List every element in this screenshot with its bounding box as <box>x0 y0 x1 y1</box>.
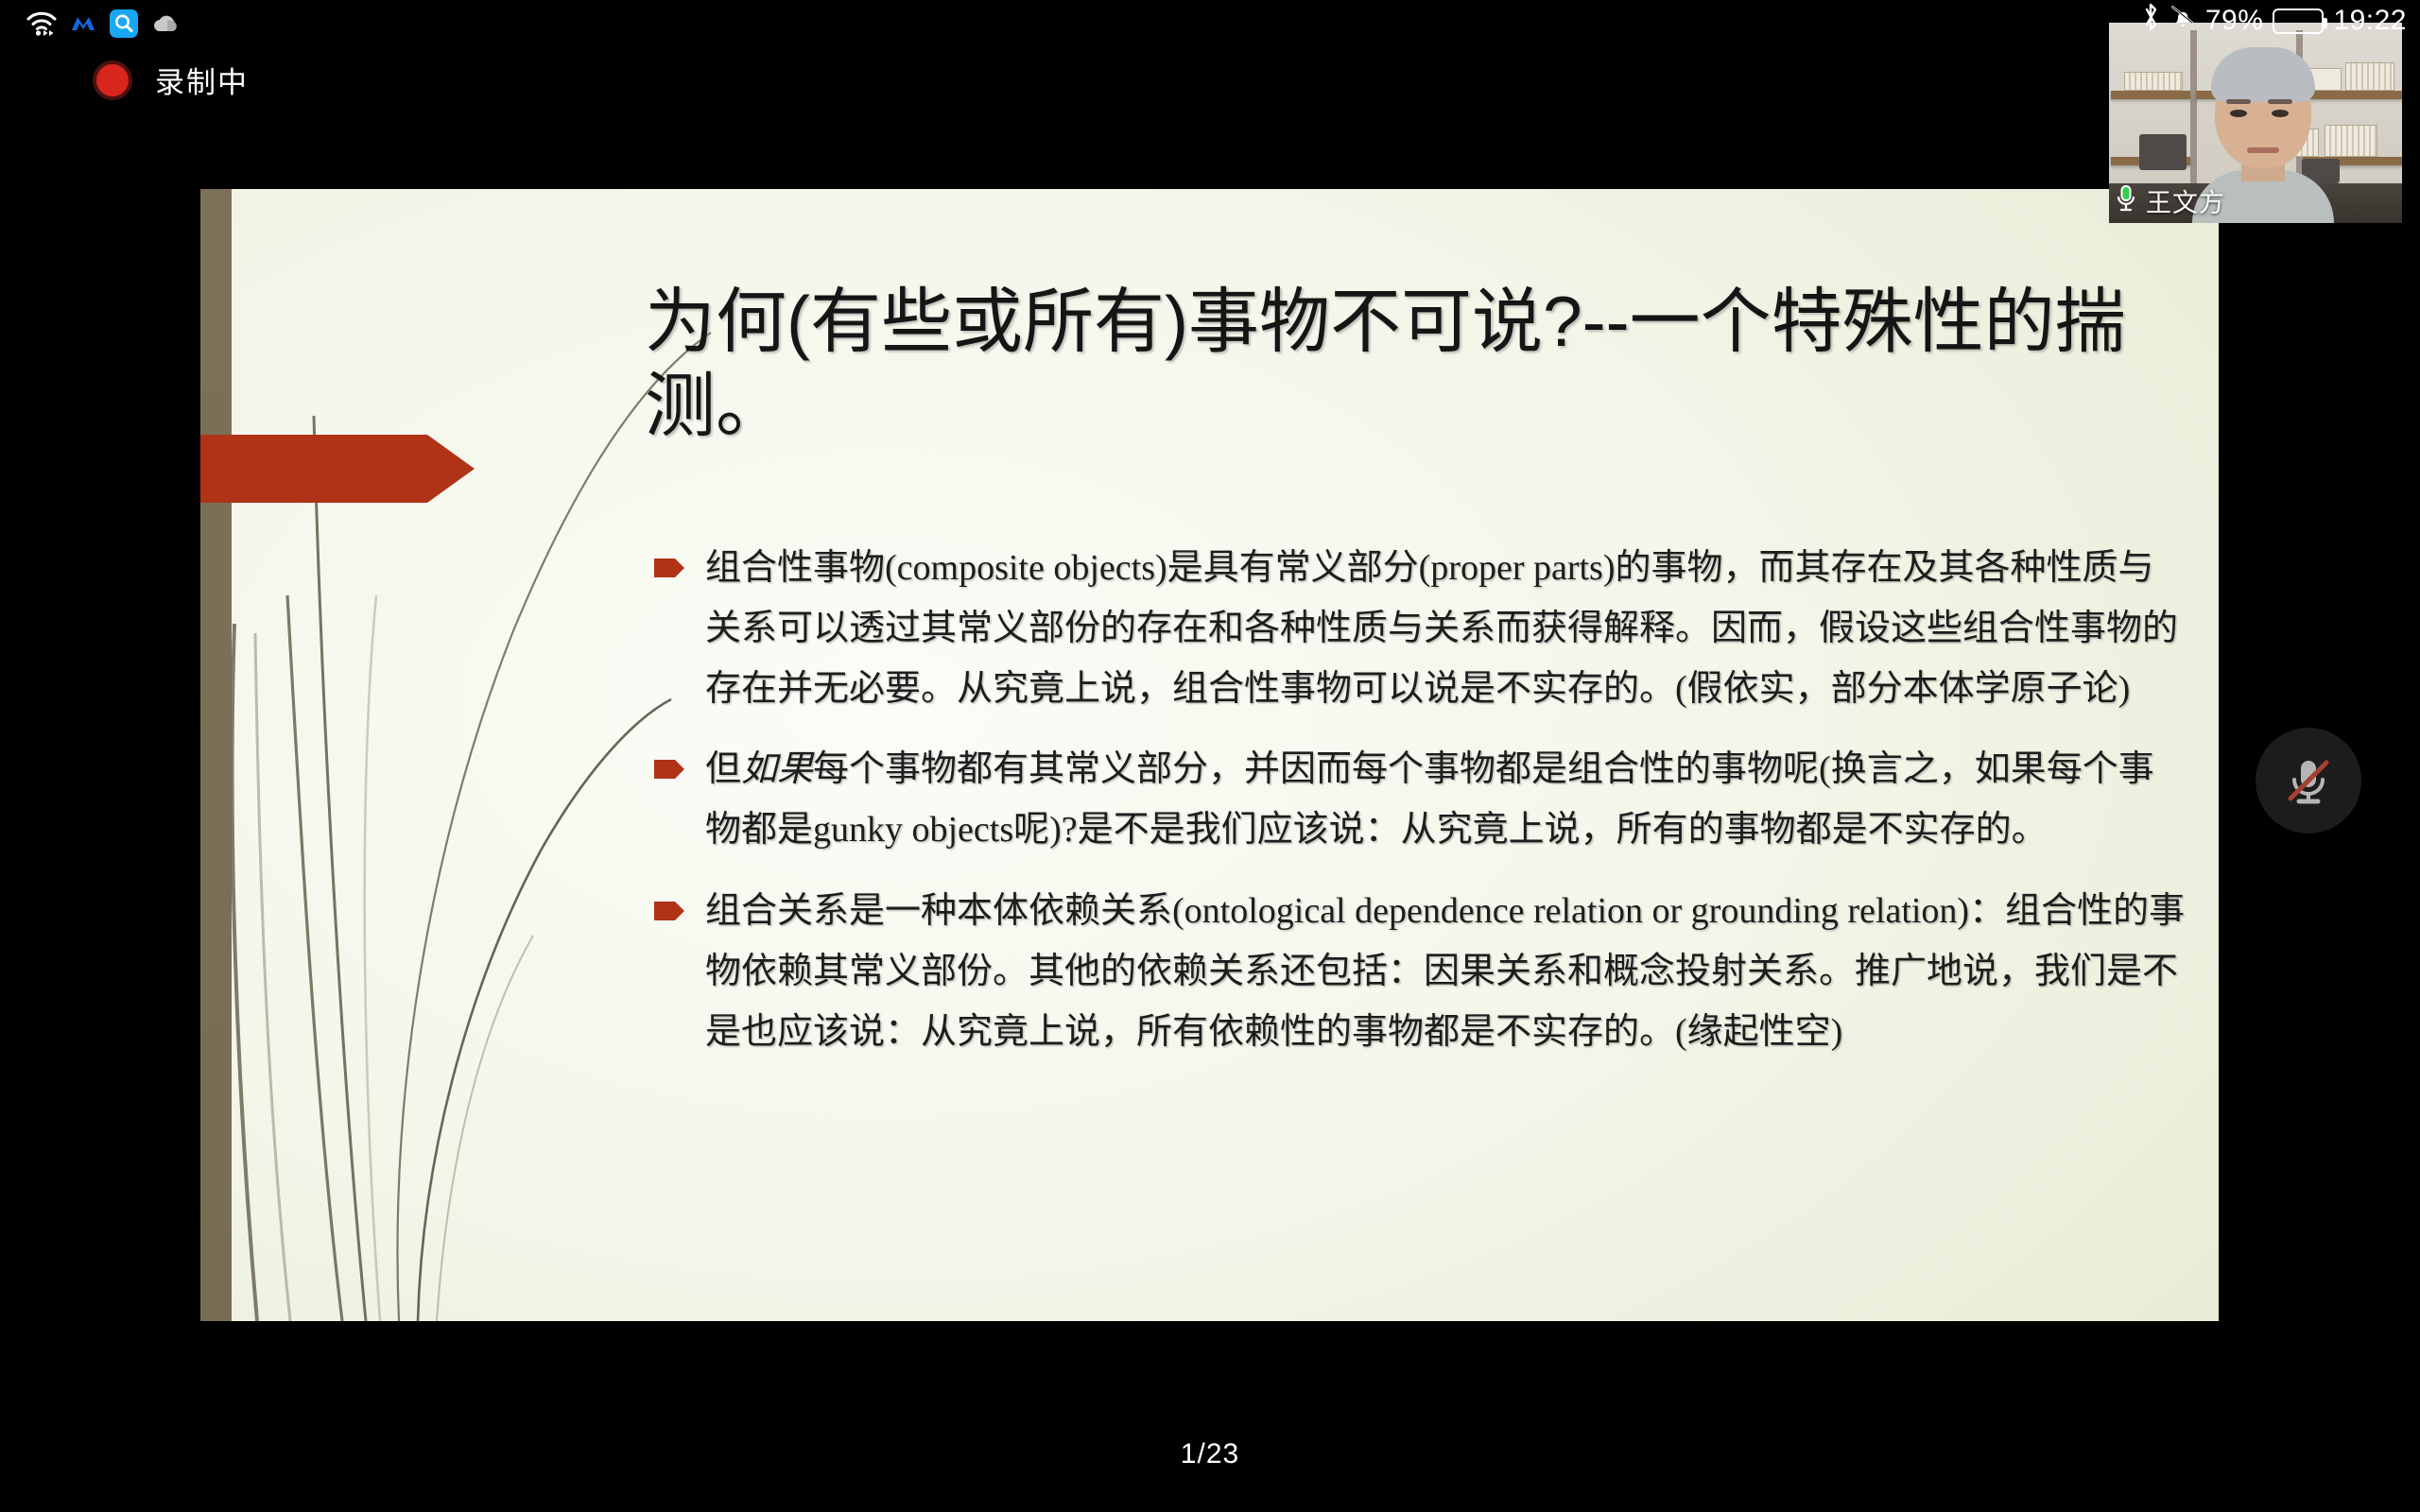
recording-indicator: 录制中 <box>93 59 249 101</box>
participant-nameplate: 王文方 <box>2114 182 2225 219</box>
bullet-text: 组合性事物(composite objects)是具有常义部分(proper p… <box>705 539 2186 719</box>
microphone-icon <box>2114 183 2138 218</box>
cloud-icon[interactable] <box>151 13 181 39</box>
person-brow <box>2268 99 2292 104</box>
bluetooth-icon <box>2141 2 2160 40</box>
battery-percent-label: 79% <box>2205 5 2264 37</box>
bell-slash-icon <box>2169 4 2196 38</box>
books <box>2124 72 2183 91</box>
slide-bullet-list: 组合性事物(composite objects)是具有常义部分(proper p… <box>654 539 2186 1084</box>
microphone-slash-icon <box>2279 751 2338 810</box>
monitor <box>2139 134 2187 170</box>
recording-label: 录制中 <box>155 59 249 101</box>
presenter-video-tile[interactable]: 王文方 <box>2109 23 2402 223</box>
title-arrow-decoration <box>200 435 475 503</box>
bullet-text: 但如果每个事物都有其常义部分，并因而每个事物都是组合性的事物呢(换言之，如果每个… <box>705 740 2186 861</box>
books <box>2325 125 2377 157</box>
shelf <box>2111 91 2190 99</box>
list-item: 组合性事物(composite objects)是具有常义部分(proper p… <box>654 539 2186 719</box>
mute-microphone-button[interactable] <box>2256 728 2361 833</box>
presentation-slide[interactable]: 为何(有些或所有)事物不可说?--一个特殊性的揣测。 组合性事物(composi… <box>200 189 2219 1321</box>
status-bar: 79% 19:22 <box>2141 0 2407 42</box>
menubar-icon-group <box>26 6 181 45</box>
shelf <box>2303 91 2402 99</box>
bullet-text: 组合关系是一种本体依赖关系(ontological dependence rel… <box>705 882 2186 1062</box>
list-item: 组合关系是一种本体依赖关系(ontological dependence rel… <box>654 882 2186 1062</box>
pentagon-bullet-icon <box>654 901 684 921</box>
person-eye <box>2272 110 2289 117</box>
pentagon-bullet-icon <box>654 558 684 578</box>
wifi-icon[interactable] <box>26 11 57 41</box>
person-brow <box>2226 99 2251 104</box>
spotlight-search-icon[interactable] <box>110 9 138 43</box>
list-item: 但如果每个事物都有其常义部分，并因而每个事物都是组合性的事物呢(换言之，如果每个… <box>654 740 2186 861</box>
person-eye <box>2230 110 2247 117</box>
battery-icon <box>2273 9 2324 34</box>
slide-title: 为何(有些或所有)事物不可说?--一个特殊性的揣测。 <box>645 280 2176 447</box>
pentagon-bullet-icon <box>654 759 684 780</box>
record-dot-icon <box>93 60 132 100</box>
messenger-icon[interactable] <box>70 13 96 39</box>
clock-label: 19:22 <box>2333 5 2407 37</box>
participant-name-label: 王文方 <box>2146 182 2225 219</box>
page-indicator: 1/23 <box>0 1438 2420 1470</box>
person-mouth <box>2247 147 2279 153</box>
books <box>2345 62 2394 91</box>
person-hair <box>2211 47 2315 102</box>
